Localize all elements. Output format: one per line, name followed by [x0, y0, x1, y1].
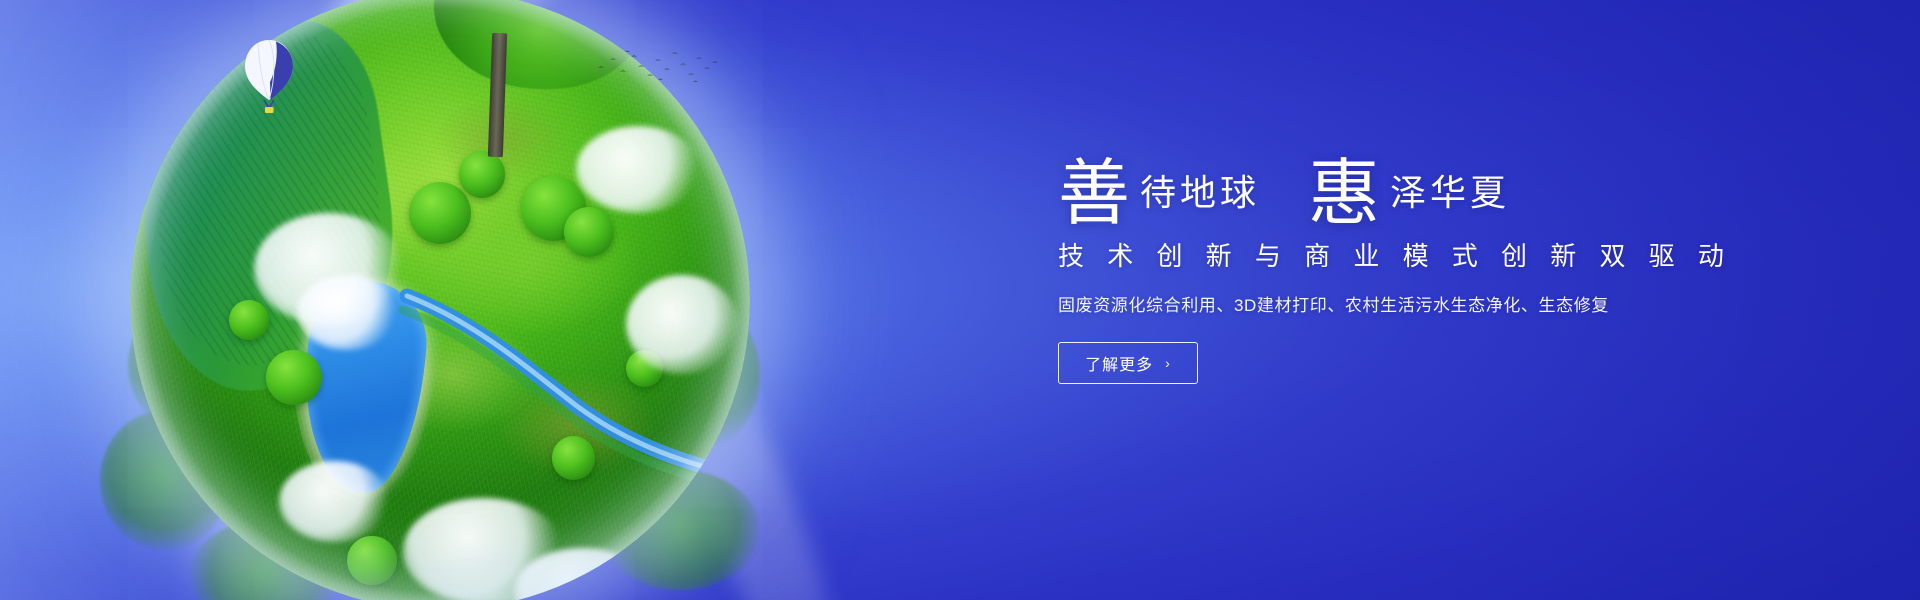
- learn-more-label: 了解更多: [1085, 351, 1153, 375]
- hero-subtitle: 技 术 创 新 与 商 业 模 式 创 新 双 驱 动: [1058, 236, 1818, 273]
- hot-air-balloon-icon: [243, 38, 295, 116]
- page-title: 善 待地球 惠 泽华夏: [1058, 128, 1818, 220]
- hero-copy-block: 善 待地球 惠 泽华夏 技 术 创 新 与 商 业 模 式 创 新 双 驱 动 …: [1058, 128, 1818, 384]
- chevron-right-icon: ›: [1165, 356, 1171, 370]
- headline-small-text-2: 泽华夏: [1390, 176, 1510, 212]
- headline-big-char-2: 惠: [1308, 160, 1380, 226]
- headline-small-text-1: 待地球: [1140, 176, 1260, 212]
- headline-big-char-1: 善: [1058, 160, 1130, 226]
- hero-banner: 善 待地球 惠 泽华夏 技 术 创 新 与 商 业 模 式 创 新 双 驱 动 …: [0, 0, 1920, 600]
- headline-group-2: 惠 泽华夏: [1308, 154, 1510, 220]
- planet-atmosphere-glow: [130, 0, 750, 600]
- green-planet-image: [130, 0, 750, 600]
- learn-more-button[interactable]: 了解更多 ›: [1058, 342, 1198, 384]
- headline-group-1: 善 待地球: [1058, 154, 1260, 220]
- hero-description: 固废资源化综合利用、3D建材打印、农村生活污水生态净化、生态修复: [1058, 291, 1818, 316]
- bird-flock-icon: [592, 48, 722, 88]
